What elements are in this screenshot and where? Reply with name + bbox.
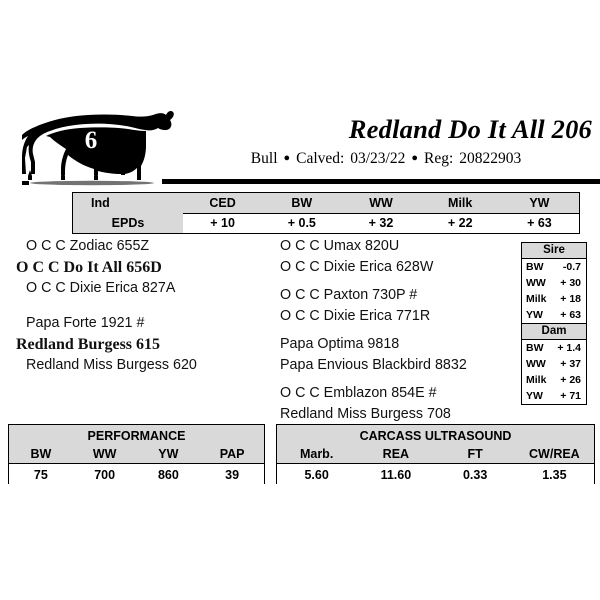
carcass-column-rea: REA (356, 445, 435, 463)
calved-date: 03/23/22 (350, 150, 405, 167)
sire-dam-epd-box: Sire BW -0.7 WW + 30 Milk + 18 YW + 63 D… (521, 242, 587, 405)
carcass-column-ft: FT (436, 445, 515, 463)
sire-epd-row: BW -0.7 (522, 259, 586, 275)
epd-value-milk: + 22 (421, 216, 500, 230)
sire-trait-bw: BW (526, 259, 552, 275)
animal-sex: Bull (251, 150, 278, 167)
pedigree-spacer (16, 299, 266, 313)
epd-value-ww: + 32 (341, 216, 420, 230)
carcass-ultrasound-table: CARCASS ULTRASOUND Marb. REA FT CW/REA 5… (276, 424, 595, 484)
sire-epd-row: YW + 63 (522, 307, 586, 323)
epd-column-ced: CED (183, 196, 262, 210)
performance-column-ww: WW (73, 445, 137, 463)
sire-epd-row: WW + 30 (522, 275, 586, 291)
lot-number: 6 (74, 128, 108, 153)
performance-header-row: BW WW YW PAP (9, 445, 264, 463)
performance-column-yw: YW (137, 445, 201, 463)
pedigree-entry-sire: O C C Do It All 656D (16, 257, 266, 278)
epd-value-yw: + 63 (500, 216, 579, 230)
pedigree-spacer (280, 278, 512, 285)
pedigree-column-grandparents: O C C Umax 820U O C C Dixie Erica 628W O… (280, 236, 512, 425)
bullet-separator-1: ● (278, 152, 297, 164)
dam-trait-ww: WW (526, 356, 552, 372)
pedigree-entry: Papa Envious Blackbird 8832 (280, 355, 512, 376)
pedigree-entry-dam: Redland Burgess 615 (16, 334, 266, 355)
epd-epds-label: EPDs (73, 216, 183, 230)
carcass-value-cwrea: 1.35 (515, 465, 594, 485)
dam-value-yw: + 71 (552, 388, 581, 404)
pedigree-entry: Papa Forte 1921 # (16, 313, 266, 334)
epd-column-bw: BW (262, 196, 341, 210)
performance-column-pap: PAP (200, 445, 264, 463)
dam-trait-milk: Milk (526, 372, 552, 388)
sire-section-title: Sire (522, 243, 586, 259)
epd-ind-label: Ind (73, 196, 183, 210)
pedigree-spacer (280, 376, 512, 383)
performance-column-bw: BW (9, 445, 73, 463)
reg-number: 20822903 (459, 150, 521, 167)
sire-trait-milk: Milk (526, 291, 552, 307)
pedigree-section: O C C Zodiac 655Z O C C Do It All 656D O… (0, 236, 600, 418)
carcass-value-marb: 5.60 (277, 465, 356, 485)
pedigree-entry: O C C Zodiac 655Z (16, 236, 266, 257)
dam-value-bw: + 1.4 (552, 340, 581, 356)
pedigree-entry: O C C Dixie Erica 771R (280, 306, 512, 327)
sire-trait-yw: YW (526, 307, 552, 323)
epd-value-ced: + 10 (183, 216, 262, 230)
pedigree-entry: O C C Emblazon 854E # (280, 383, 512, 404)
performance-value-bw: 75 (9, 465, 73, 485)
sire-value-yw: + 63 (552, 307, 581, 323)
pedigree-entry: O C C Dixie Erica 628W (280, 257, 512, 278)
performance-value-pap: 39 (200, 465, 264, 485)
carcass-value-ft: 0.33 (436, 465, 515, 485)
sire-value-ww: + 30 (552, 275, 581, 291)
performance-values-row: 75 700 860 39 (9, 463, 264, 485)
performance-value-yw: 860 (137, 465, 201, 485)
pedigree-spacer (280, 327, 512, 334)
pedigree-entry: O C C Umax 820U (280, 236, 512, 257)
dam-section-title: Dam (522, 323, 586, 340)
dam-epd-row: BW + 1.4 (522, 340, 586, 356)
dam-epd-row: YW + 71 (522, 388, 586, 404)
pedigree-entry: Redland Miss Burgess 708 (280, 404, 512, 425)
sire-value-bw: -0.7 (552, 259, 581, 275)
pedigree-entry: O C C Paxton 730P # (280, 285, 512, 306)
dam-trait-yw: YW (526, 388, 552, 404)
pedigree-column-parents: O C C Zodiac 655Z O C C Do It All 656D O… (16, 236, 266, 376)
carcass-column-marb: Marb. (277, 445, 356, 463)
epd-value-bw: + 0.5 (262, 216, 341, 230)
epd-table: Ind CED BW WW Milk YW EPDs + 10 + 0.5 + … (72, 192, 580, 234)
sire-epd-row: Milk + 18 (522, 291, 586, 307)
calved-label: Calved: (296, 150, 346, 167)
pedigree-entry: Redland Miss Burgess 620 (16, 355, 266, 376)
dam-value-milk: + 26 (552, 372, 581, 388)
dam-value-ww: + 37 (552, 356, 581, 372)
performance-value-ww: 700 (73, 465, 137, 485)
sire-trait-ww: WW (526, 275, 552, 291)
performance-title: PERFORMANCE (9, 425, 264, 445)
epd-values-row: EPDs + 10 + 0.5 + 32 + 22 + 63 (73, 213, 579, 233)
bullet-separator-2: ● (405, 152, 424, 164)
carcass-column-cwrea: CW/REA (515, 445, 594, 463)
carcass-title: CARCASS ULTRASOUND (277, 425, 594, 445)
dam-trait-bw: BW (526, 340, 552, 356)
carcass-value-rea: 11.60 (356, 465, 435, 485)
dam-epd-row: WW + 37 (522, 356, 586, 372)
header-divider (162, 179, 600, 184)
bull-silhouette-icon: 6 (22, 102, 177, 188)
animal-details: Bull●Calved: 03/23/22●Reg: 20822903 (180, 150, 592, 168)
pedigree-entry: Papa Optima 9818 (280, 334, 512, 355)
carcass-values-row: 5.60 11.60 0.33 1.35 (277, 463, 594, 485)
carcass-header-row: Marb. REA FT CW/REA (277, 445, 594, 463)
sire-value-milk: + 18 (552, 291, 581, 307)
epd-column-ww: WW (341, 196, 420, 210)
lot-header: 6 Redland Do It All 206 Bull●Calved: 03/… (0, 100, 600, 192)
epd-column-yw: YW (500, 196, 579, 210)
dam-epd-row: Milk + 26 (522, 372, 586, 388)
reg-label: Reg: (424, 150, 455, 167)
pedigree-entry: O C C Dixie Erica 827A (16, 278, 266, 299)
performance-table: PERFORMANCE BW WW YW PAP 75 700 860 39 (8, 424, 265, 484)
epd-header-row: Ind CED BW WW Milk YW (73, 193, 579, 213)
page-title: Redland Do It All 206 (190, 114, 592, 145)
epd-column-milk: Milk (421, 196, 500, 210)
